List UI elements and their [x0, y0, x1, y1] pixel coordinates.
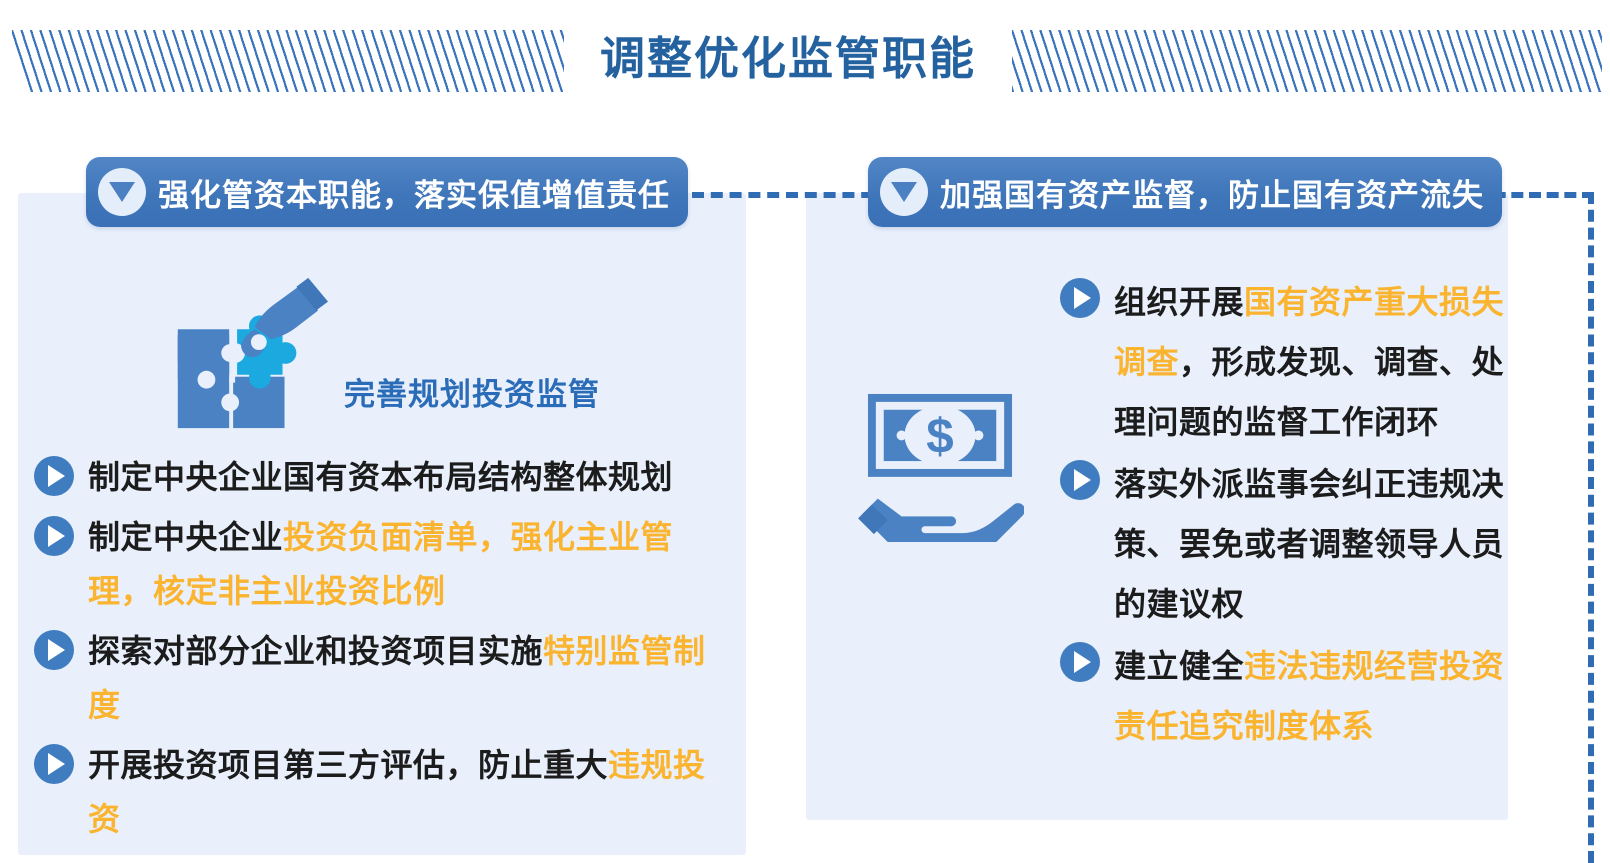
left-bullet-list: 制定中央企业国有资本布局结构整体规划制定中央企业投资负面清单，强化主业管理，核定… — [34, 450, 734, 852]
triangle-down-icon — [880, 168, 928, 216]
bullet-item: 制定中央企业国有资本布局结构整体规划 — [34, 450, 734, 504]
diagonal-stripe-band-left-icon — [12, 30, 564, 92]
left-feature-block: 完善规划投资监管 — [160, 268, 600, 436]
bullet-text-plain: 建立健全 — [1114, 648, 1244, 684]
bullet-text: 建立健全违法违规经营投资责任追究制度体系 — [1114, 636, 1510, 756]
puzzle-hand-icon — [160, 268, 328, 436]
bullet-item: 组织开展国有资产重大损失调查，形成发现、调查、处理问题的监督工作闭环 — [1060, 272, 1510, 452]
page-header: 调整优化监管职能 — [0, 0, 1610, 118]
right-bullet-list: 组织开展国有资产重大损失调查，形成发现、调查、处理问题的监督工作闭环落实外派监事… — [1060, 272, 1510, 758]
bullet-text-plain: 制定中央企业国有资本布局结构整体规划 — [88, 459, 673, 495]
right-panel-header-pill[interactable]: 加强国有资产监督，防止国有资产流失 — [868, 157, 1502, 227]
bullet-text: 探索对部分企业和投资项目实施特别监管制度 — [88, 624, 734, 732]
play-circle-icon — [34, 516, 74, 556]
triangle-down-icon — [98, 168, 146, 216]
left-panel-header-label: 强化管资本职能，落实保值增值责任 — [158, 170, 670, 215]
page-title: 调整优化监管职能 — [564, 28, 1012, 90]
bullet-item: 探索对部分企业和投资项目实施特别监管制度 — [34, 624, 734, 732]
bullet-text-plain: 落实外派监事会纠正违规决策、罢免或者调整领导人员的建议权 — [1114, 466, 1504, 622]
left-panel-header-pill[interactable]: 强化管资本职能，落实保值增值责任 — [86, 157, 688, 227]
bullet-text-plain: 组织开展 — [1114, 284, 1244, 320]
bullet-text: 制定中央企业投资负面清单，强化主业管理，核定非主业投资比例 — [88, 510, 734, 618]
bullet-item: 开展投资项目第三方评估，防止重大违规投资 — [34, 738, 734, 846]
play-circle-icon — [1060, 278, 1100, 318]
play-circle-icon — [34, 456, 74, 496]
bullet-item: 制定中央企业投资负面清单，强化主业管理，核定非主业投资比例 — [34, 510, 734, 618]
left-feature-subtitle: 完善规划投资监管 — [344, 369, 600, 414]
svg-text:$: $ — [926, 409, 953, 464]
diagonal-stripe-band-right-icon — [1012, 30, 1602, 92]
play-circle-icon — [1060, 460, 1100, 500]
bullet-item: 落实外派监事会纠正违规决策、罢免或者调整领导人员的建议权 — [1060, 454, 1510, 634]
play-circle-icon — [34, 630, 74, 670]
connector-dashed-line-middle — [692, 192, 892, 198]
play-circle-icon — [1060, 642, 1100, 682]
play-circle-icon — [34, 744, 74, 784]
bullet-item: 建立健全违法违规经营投资责任追究制度体系 — [1060, 636, 1510, 756]
hand-holding-money-icon: $ — [856, 392, 1024, 542]
bullet-text-plain: 开展投资项目第三方评估，防止重大 — [88, 747, 608, 783]
bullet-text: 落实外派监事会纠正违规决策、罢免或者调整领导人员的建议权 — [1114, 454, 1510, 634]
bullet-text-plain: 制定中央企业 — [88, 519, 283, 555]
bullet-text: 制定中央企业国有资本布局结构整体规划 — [88, 450, 673, 504]
right-panel-header-label: 加强国有资产监督，防止国有资产流失 — [940, 170, 1484, 215]
bullet-text: 组织开展国有资产重大损失调查，形成发现、调查、处理问题的监督工作闭环 — [1114, 272, 1510, 452]
connector-dashed-line-right-vertical — [1588, 192, 1594, 863]
bullet-text: 开展投资项目第三方评估，防止重大违规投资 — [88, 738, 734, 846]
bullet-text-plain: 探索对部分企业和投资项目实施 — [88, 633, 543, 669]
